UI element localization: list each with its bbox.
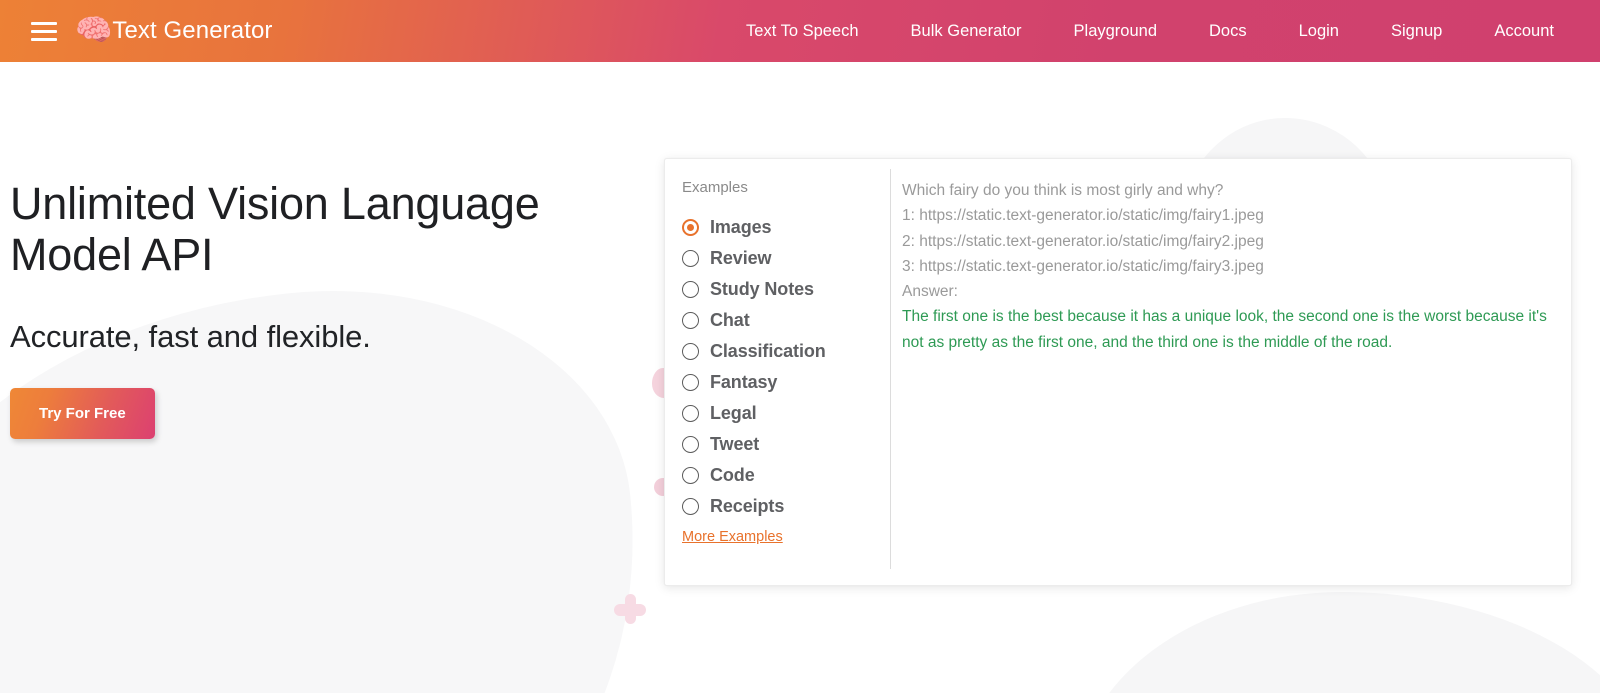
example-option-review[interactable]: Review: [682, 243, 890, 274]
example-option-label: Legal: [710, 403, 757, 424]
example-option-classification[interactable]: Classification: [682, 336, 890, 367]
brain-icon: 🧠: [75, 16, 112, 46]
prompt-line-image-3: 3: https://static.text-generator.io/stat…: [902, 254, 1559, 279]
example-option-images[interactable]: Images: [682, 212, 890, 243]
radio-icon-classification[interactable]: [682, 343, 699, 360]
nav-item-account[interactable]: Account: [1468, 16, 1564, 47]
page-root: 🧠 Text Generator Text To Speech Bulk Gen…: [0, 0, 1600, 693]
radio-icon-code[interactable]: [682, 467, 699, 484]
prompt-line-question: Which fairy do you think is most girly a…: [902, 178, 1559, 203]
examples-demo-card: Examples Images Review Study Notes Chat: [664, 158, 1572, 586]
prompt-line-image-2: 2: https://static.text-generator.io/stat…: [902, 229, 1559, 254]
examples-pane: Examples Images Review Study Notes Chat: [665, 159, 890, 585]
decorative-pink-cross: [614, 594, 646, 624]
background-blob-bottom-right: [1075, 592, 1600, 693]
radio-icon-fantasy[interactable]: [682, 374, 699, 391]
brand-home-link[interactable]: 🧠 Text Generator: [75, 16, 273, 46]
example-option-fantasy[interactable]: Fantasy: [682, 367, 890, 398]
nav-item-text-to-speech[interactable]: Text To Speech: [720, 16, 885, 47]
main-navigation: Text To Speech Bulk Generator Playground…: [720, 16, 1564, 47]
nav-item-login[interactable]: Login: [1273, 16, 1365, 47]
examples-label: Examples: [682, 179, 890, 196]
radio-icon-study-notes[interactable]: [682, 281, 699, 298]
radio-icon-receipts[interactable]: [682, 498, 699, 515]
nav-item-signup[interactable]: Signup: [1365, 16, 1468, 47]
example-option-label: Receipts: [710, 496, 784, 517]
radio-icon-review[interactable]: [682, 250, 699, 267]
nav-item-bulk-generator[interactable]: Bulk Generator: [885, 16, 1048, 47]
examples-radio-group: Images Review Study Notes Chat Classific: [682, 212, 890, 522]
radio-icon-tweet[interactable]: [682, 436, 699, 453]
brand-title: Text Generator: [112, 17, 272, 45]
try-for-free-button[interactable]: Try For Free: [10, 388, 155, 439]
prompt-line-answer-label: Answer:: [902, 279, 1559, 304]
hero-subtitle: Accurate, fast and flexible.: [10, 319, 610, 355]
prompt-line-image-1: 1: https://static.text-generator.io/stat…: [902, 203, 1559, 228]
radio-icon-legal[interactable]: [682, 405, 699, 422]
generated-answer-text: The first one is the best because it has…: [902, 304, 1559, 355]
example-option-label: Fantasy: [710, 372, 777, 393]
output-pane[interactable]: Which fairy do you think is most girly a…: [891, 159, 1571, 585]
site-header: 🧠 Text Generator Text To Speech Bulk Gen…: [0, 0, 1600, 62]
example-option-code[interactable]: Code: [682, 460, 890, 491]
example-option-label: Chat: [710, 310, 750, 331]
nav-item-playground[interactable]: Playground: [1048, 16, 1183, 47]
radio-icon-images[interactable]: [682, 219, 699, 236]
hero-section: Unlimited Vision Language Model API Accu…: [10, 178, 610, 439]
example-option-tweet[interactable]: Tweet: [682, 429, 890, 460]
example-option-label: Review: [710, 248, 771, 269]
example-option-study-notes[interactable]: Study Notes: [682, 274, 890, 305]
more-examples-link[interactable]: More Examples: [682, 529, 783, 545]
example-option-label: Code: [710, 465, 755, 486]
example-option-receipts[interactable]: Receipts: [682, 491, 890, 522]
page-title: Unlimited Vision Language Model API: [10, 178, 610, 281]
nav-item-docs[interactable]: Docs: [1183, 16, 1273, 47]
example-option-label: Classification: [710, 341, 826, 362]
example-option-label: Study Notes: [710, 279, 814, 300]
example-option-label: Tweet: [710, 434, 759, 455]
example-option-label: Images: [710, 217, 771, 238]
example-option-chat[interactable]: Chat: [682, 305, 890, 336]
radio-icon-chat[interactable]: [682, 312, 699, 329]
hamburger-menu-icon[interactable]: [18, 0, 70, 62]
example-option-legal[interactable]: Legal: [682, 398, 890, 429]
